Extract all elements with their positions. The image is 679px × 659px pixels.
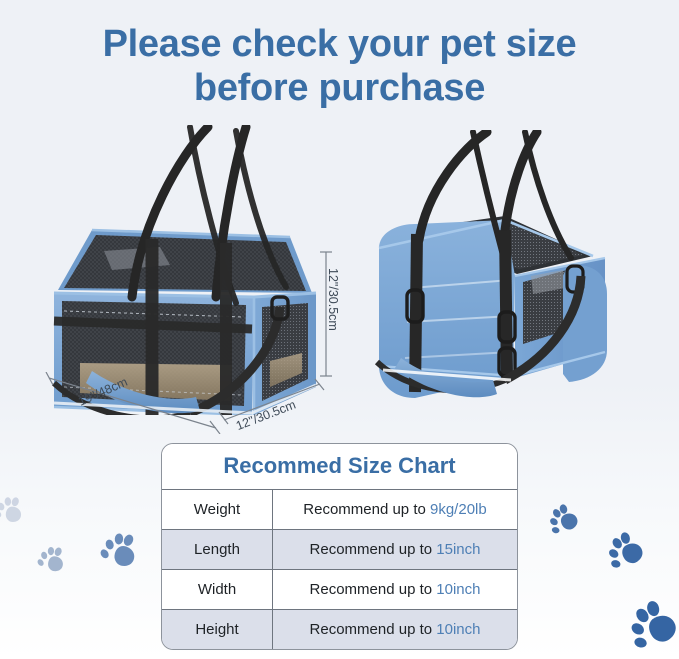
recommend-value: 10inch bbox=[436, 581, 480, 598]
table-row: WidthRecommend up to 10inch bbox=[162, 570, 517, 610]
size-chart-row-value: Recommend up to 15inch bbox=[273, 530, 518, 570]
page-title-line2: before purchase bbox=[0, 66, 679, 110]
size-chart-row-label: Width bbox=[162, 570, 273, 610]
size-chart-table: WeightRecommend up to 9kg/20lbLengthReco… bbox=[162, 489, 517, 649]
dimension-label-height: 12"/30.5cm bbox=[326, 268, 340, 331]
right-carrier-image bbox=[355, 130, 640, 420]
size-chart-row-label: Weight bbox=[162, 490, 273, 530]
size-chart-row-value: Recommend up to 10inch bbox=[273, 610, 518, 650]
recommend-prefix: Recommend up to bbox=[310, 621, 437, 638]
paw-print-left-faded bbox=[0, 488, 32, 529]
recommend-value: 9kg/20lb bbox=[430, 501, 487, 518]
size-chart-row-value: Recommend up to 10inch bbox=[273, 570, 518, 610]
recommend-value: 10inch bbox=[436, 621, 480, 638]
size-chart-row-label: Height bbox=[162, 610, 273, 650]
paw-print-right-mid bbox=[598, 521, 654, 577]
size-chart-card: Recommed Size Chart WeightRecommend up t… bbox=[161, 443, 518, 650]
paw-print-left-small bbox=[33, 538, 75, 580]
paw-print-right-small bbox=[541, 495, 587, 541]
dimension-line-length bbox=[44, 372, 224, 439]
recommend-value: 15inch bbox=[436, 541, 480, 558]
table-row: LengthRecommend up to 15inch bbox=[162, 530, 517, 570]
size-chart-row-value: Recommend up to 9kg/20lb bbox=[273, 490, 518, 530]
recommend-prefix: Recommend up to bbox=[303, 501, 430, 518]
size-chart-row-label: Length bbox=[162, 530, 273, 570]
size-chart-title: Recommed Size Chart bbox=[162, 444, 517, 489]
recommend-prefix: Recommend up to bbox=[310, 541, 437, 558]
infographic-page: Please check your pet size before purcha… bbox=[0, 0, 679, 659]
right-strap-right bbox=[505, 230, 507, 378]
table-row: WeightRecommend up to 9kg/20lb bbox=[162, 490, 517, 530]
page-title: Please check your pet size before purcha… bbox=[0, 22, 679, 110]
paw-print-right-large bbox=[617, 586, 679, 659]
paw-print-left-medium bbox=[94, 521, 150, 577]
table-row: HeightRecommend up to 10inch bbox=[162, 610, 517, 650]
page-title-line1: Please check your pet size bbox=[103, 23, 577, 65]
recommend-prefix: Recommend up to bbox=[310, 581, 437, 598]
